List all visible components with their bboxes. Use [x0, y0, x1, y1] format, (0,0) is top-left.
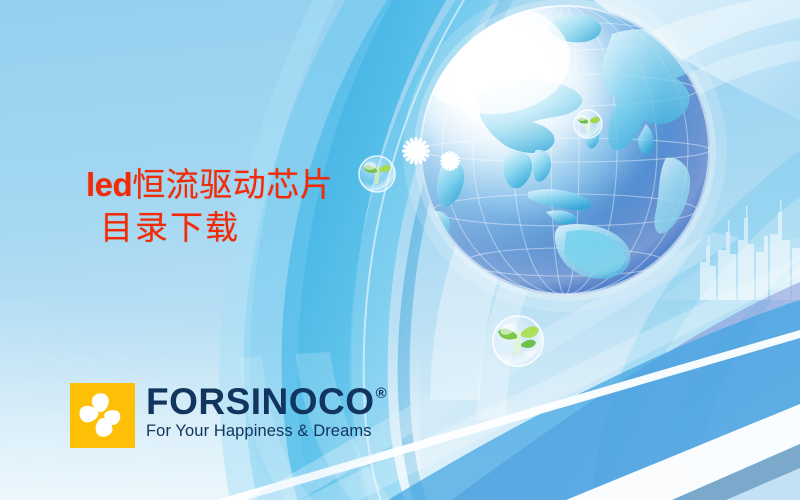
starburst-sparkle: [440, 151, 460, 171]
wordmark-label: FORSINOCO: [146, 384, 375, 420]
eco-bubble-globe-edge: [574, 110, 602, 138]
starburst-sparkle: [402, 137, 430, 165]
led-catalog-banner: led恒流驱动芯片 目录下载 FORSINOCO ® For Your Happ: [0, 0, 800, 500]
logo-text-block: FORSINOCO ® For Your Happiness & Dreams: [146, 383, 387, 441]
wordmark: FORSINOCO ®: [146, 384, 387, 420]
headline-cjk-part: 恒流驱动芯片: [132, 166, 333, 203]
registered-trademark-symbol: ®: [376, 386, 388, 401]
forsinoco-pinwheel-mark: [70, 383, 135, 448]
headline-line-1: led恒流驱动芯片: [86, 164, 333, 207]
headline-line-2: 目录下载: [100, 207, 333, 250]
eco-bubble-large: [493, 316, 543, 366]
forsinoco-logo-lockup: FORSINOCO ® For Your Happiness & Dreams: [70, 383, 387, 448]
headline-text: led恒流驱动芯片 目录下载: [86, 164, 333, 250]
eco-bubble-small: [359, 156, 395, 192]
tagline: For Your Happiness & Dreams: [146, 422, 387, 441]
headline-latin-part: led: [86, 166, 132, 203]
